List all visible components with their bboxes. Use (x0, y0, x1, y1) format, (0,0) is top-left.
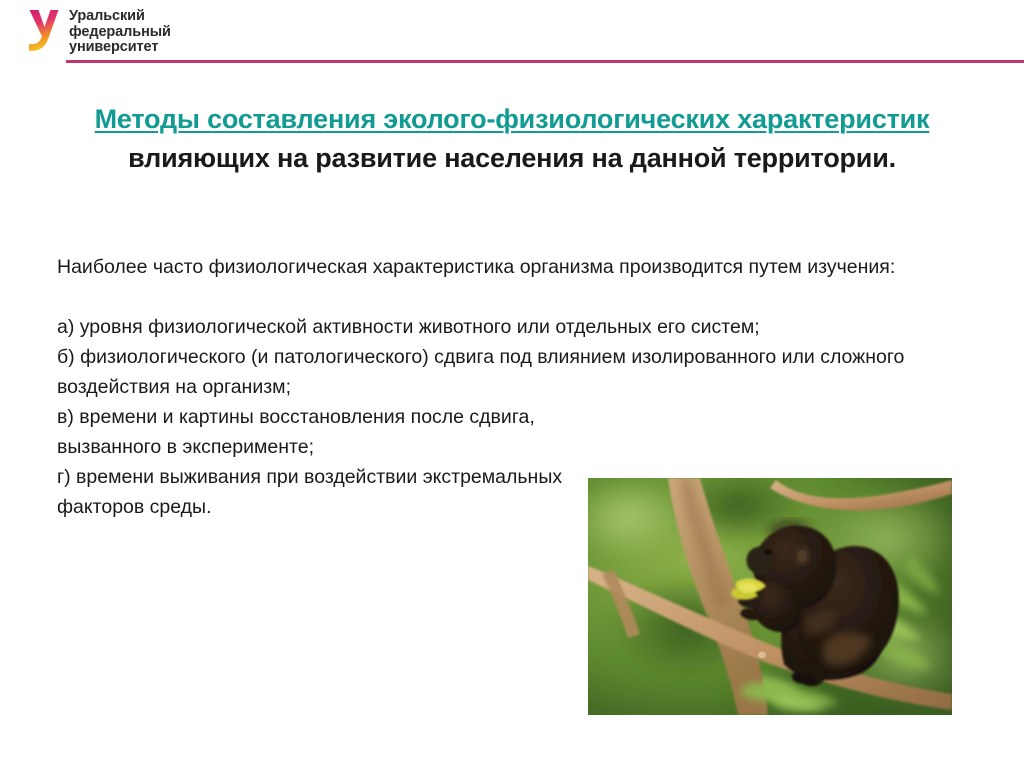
logo-line-1: Уральский (69, 9, 171, 25)
university-logo: Уральский федеральный университет (26, 8, 171, 56)
list-item: а) уровня физиологической активности жив… (57, 312, 969, 342)
list-item: б) физиологического (и патологического) … (57, 342, 969, 402)
header-divider-rule (66, 60, 1024, 63)
page-title: Методы составления эколого-физиологическ… (56, 100, 968, 178)
page-title-highlight: Методы составления эколого-физиологическ… (95, 104, 930, 134)
university-logo-wordmark: Уральский федеральный университет (69, 8, 171, 56)
list-item: г) времени выживания при воздействии экс… (57, 462, 577, 522)
paragraph-spacer (57, 282, 969, 312)
page-title-rest: влияющих на развитие населения на данной… (128, 143, 896, 173)
list-item: в) времени и картины восстановления посл… (57, 402, 577, 462)
body-intro-paragraph: Наиболее часто физиологическая характери… (57, 252, 969, 282)
ural-federal-university-logo-mark (26, 8, 60, 54)
logo-line-2: федеральный (69, 25, 171, 41)
slide-header: Уральский федеральный университет (0, 0, 1024, 68)
monkey-on-branch-photo (588, 478, 952, 715)
logo-line-3: университет (69, 40, 171, 56)
